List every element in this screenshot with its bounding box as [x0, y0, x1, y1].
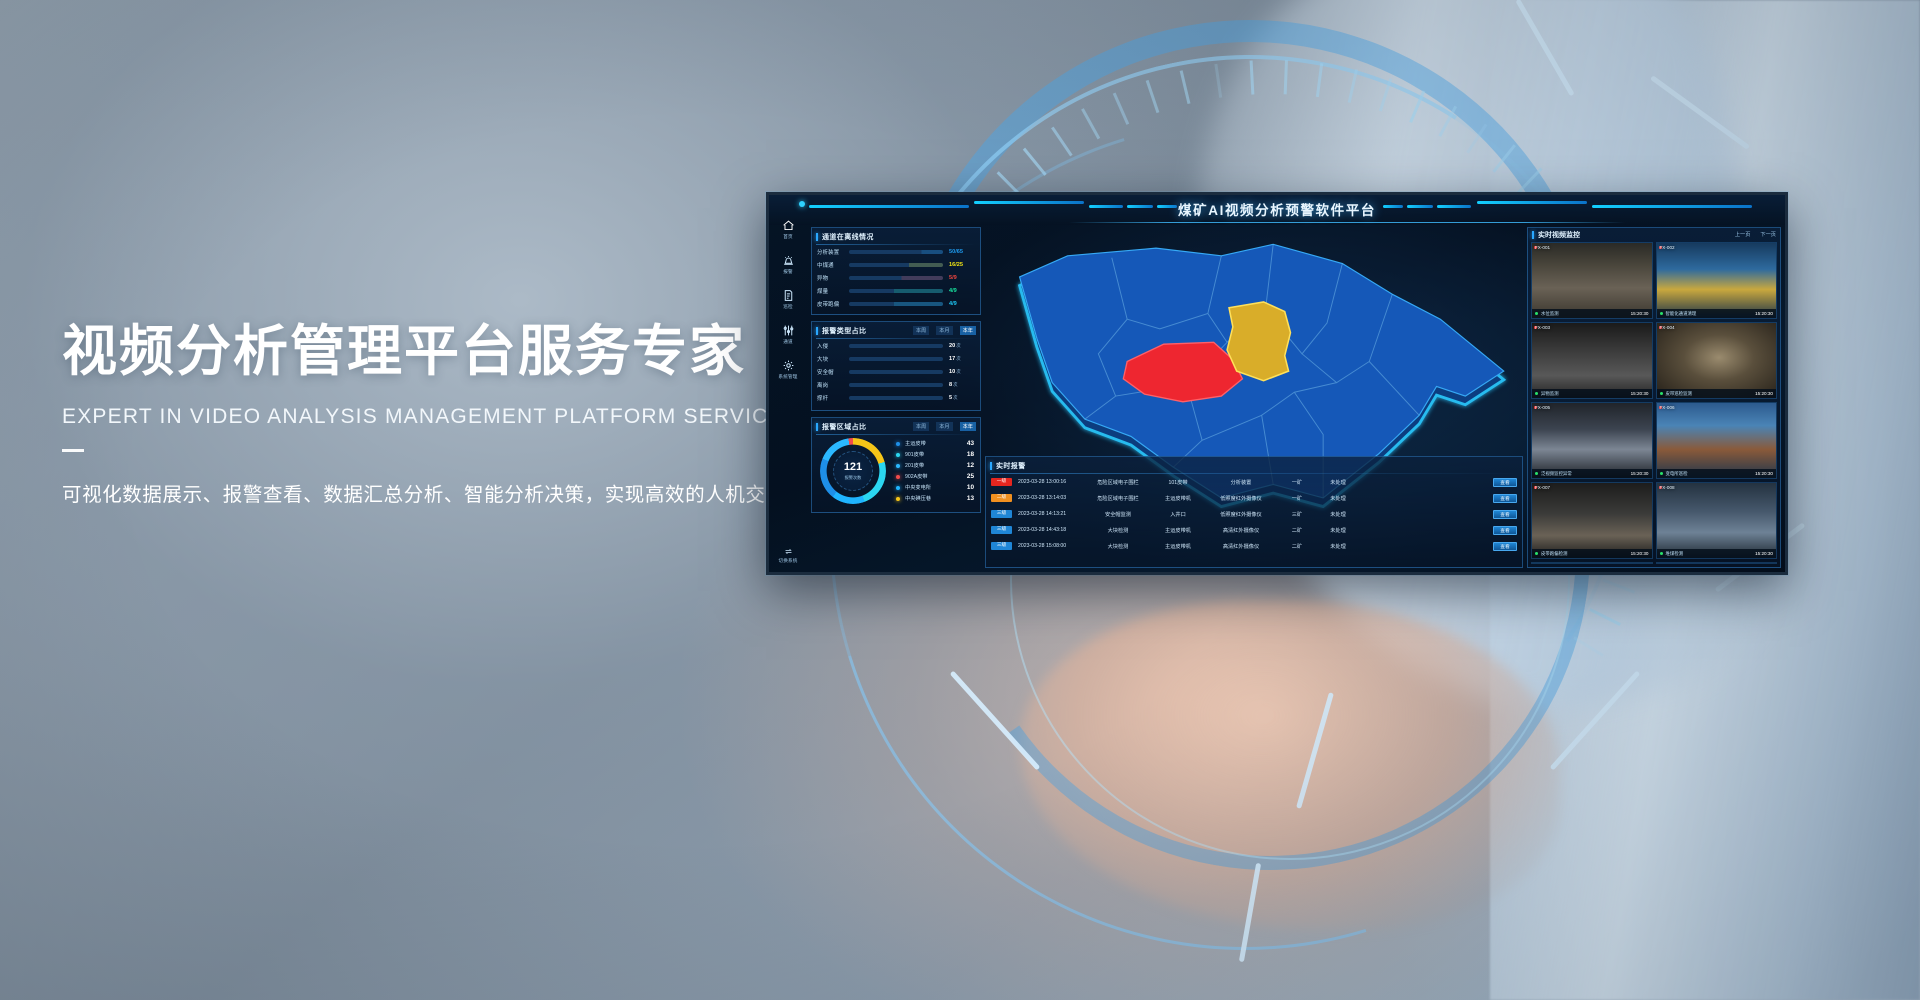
- video-caption-bar: 异物监测15:20:30: [1532, 389, 1652, 398]
- alarm-type-track: [849, 344, 943, 348]
- video-name: 堆煤检测: [1666, 551, 1684, 557]
- alarm-type-row: 安全帽10次: [812, 365, 980, 378]
- legend-item: 中央碘压巷13: [896, 493, 974, 504]
- cell-location: 主运皮带机: [1148, 495, 1202, 502]
- channel-row-value: 16/25: [949, 262, 975, 268]
- panel-accent-bar: [990, 462, 992, 470]
- status-badge: 一级: [991, 478, 1012, 486]
- channel-row-label: 分析装置: [817, 248, 849, 256]
- hero-headline: 视频分析管理平台服务专家: [62, 320, 822, 383]
- alarm-type-title: 报警类型占比: [822, 326, 866, 336]
- sidebar: 首页 报警 巡检: [769, 209, 807, 572]
- cell-status: 未处理: [1314, 527, 1356, 534]
- table-row: 三级2023-03-28 15:08:00大块检测主运皮带机高清红外摄像仪二矿未…: [986, 538, 1522, 554]
- tab-本月[interactable]: 本月: [936, 326, 952, 335]
- video-caption-bar: 变电所巡检15:20:30: [1657, 469, 1777, 478]
- alarm-type-row: 入侵20次: [812, 339, 980, 352]
- cell-type: 安全帽监测: [1082, 511, 1148, 518]
- alarm-type-value: 8次: [949, 382, 975, 388]
- video-caption-bar: 皮带机检测15:20:30: [1532, 562, 1652, 563]
- legend-item: 主运皮带43: [896, 438, 974, 449]
- video-tile[interactable]: FX-002智能化通道清理15:20:30: [1656, 242, 1778, 319]
- channel-row-track: [849, 276, 943, 280]
- alarm-type-unit: 次: [953, 382, 957, 387]
- video-id: FX-001: [1535, 245, 1550, 250]
- status-badge: 三级: [991, 542, 1012, 550]
- video-feed: [1532, 323, 1652, 398]
- channel-row-label: 皮带跑偏: [817, 300, 849, 308]
- video-caption-bar: 堆煤检测15:20:30: [1657, 549, 1777, 558]
- video-id: FX-005: [1535, 405, 1550, 410]
- cell-location: 101皮带: [1148, 479, 1202, 486]
- video-tile[interactable]: FX-005泛视频监控异常15:20:30: [1531, 402, 1653, 479]
- online-status-icon: [1535, 312, 1538, 315]
- alarm-type-panel: 报警类型占比 本周本月本年 入侵20次大块17次安全帽10次离岗8次撑杆5次: [811, 321, 981, 411]
- channel-rows: 分析装置50/65中煤通16/25异物5/9煤量4/9皮带跑偏4/9: [812, 245, 980, 310]
- hero-copy: 视频分析管理平台服务专家 EXPERT IN VIDEO ANALYSIS MA…: [62, 320, 822, 507]
- panel-accent-bar: [1532, 231, 1534, 239]
- alarm-area-legend: 主运皮带43901皮带18201皮带12902A皮带25中央变电所10中央碘压巷…: [896, 438, 974, 504]
- video-timestamp: 15:20:30: [1755, 471, 1773, 476]
- cell-mine: 三矿: [1274, 511, 1314, 518]
- channel-row: 异物5/9: [812, 271, 980, 284]
- video-name: 泛视频监控异常: [1541, 471, 1572, 477]
- video-tile[interactable]: FX-009皮带机检测15:20:30: [1531, 562, 1653, 564]
- video-panel-title: 实时视频监控: [1538, 230, 1580, 240]
- alarm-type-label: 撑杆: [817, 394, 849, 402]
- video-tile[interactable]: FX-001水位监测15:20:30: [1531, 242, 1653, 319]
- legend-label: 902A皮带: [905, 473, 956, 480]
- alarm-type-unit: 次: [956, 356, 960, 361]
- legend-label: 201皮带: [905, 462, 956, 469]
- cell-device: 高清红外摄像仪: [1202, 543, 1274, 550]
- view-button[interactable]: 查看: [1493, 494, 1517, 503]
- cell-time: 2023-03-28 14:13:21: [1012, 511, 1082, 517]
- dashboard-topbar: 煤矿AI视频分析预警软件平台: [769, 195, 1785, 225]
- alarm-type-track: [849, 357, 943, 361]
- inspection-icon: [769, 289, 807, 302]
- alarm-type-value: 10次: [949, 369, 975, 375]
- cell-type: 大块检测: [1082, 527, 1148, 534]
- channel-row: 皮带跑偏4/9: [812, 297, 980, 310]
- sidebar-label-system-settings: 系统管理: [769, 374, 807, 380]
- video-feed: [1532, 243, 1652, 318]
- video-id: FX-008: [1660, 485, 1675, 490]
- alarm-type-value: 20次: [949, 343, 975, 349]
- title-underline: [1069, 222, 1625, 223]
- online-status-icon: [1535, 392, 1538, 395]
- cell-status: 未处理: [1314, 495, 1356, 502]
- alarm-area-header: 报警区域占比 本周本月本年: [812, 420, 980, 433]
- legend-value: 13: [956, 495, 974, 502]
- legend-dot: [896, 497, 900, 501]
- alarm-icon: [769, 254, 807, 267]
- video-timestamp: 15:20:30: [1631, 551, 1649, 556]
- video-feed: [1657, 243, 1777, 318]
- channel-row: 煤量4/9: [812, 284, 980, 297]
- legend-value: 12: [956, 462, 974, 469]
- video-id: FX-004: [1660, 325, 1675, 330]
- cell-mine: 二矿: [1274, 527, 1314, 534]
- table-row: 一级2023-03-28 13:00:16危险区域电子围栏101皮带分析装置一矿…: [986, 474, 1522, 490]
- dashboard-screen: 煤矿AI视频分析预警软件平台 首页 报警: [766, 192, 1788, 575]
- video-timestamp: 15:20:30: [1631, 391, 1649, 396]
- cell-location: 入井口: [1148, 511, 1202, 518]
- cell-location: 主运皮带机: [1148, 543, 1202, 550]
- sidebar-item-home[interactable]: 首页: [769, 219, 807, 240]
- view-button[interactable]: 查看: [1493, 478, 1517, 487]
- alarm-type-label: 入侵: [817, 342, 849, 350]
- legend-label: 中央变电所: [905, 484, 956, 491]
- sidebar-item-system-settings[interactable]: 系统管理: [769, 359, 807, 380]
- alarm-type-tabs: 本周本月本年: [913, 326, 976, 335]
- sidebar-label-switch-system: 切换系统: [769, 558, 807, 564]
- video-caption-bar: 皮带巡检监测15:20:30: [1657, 389, 1777, 398]
- video-caption-bar: 泛视频监控异常15:20:30: [1532, 469, 1652, 478]
- video-feed: [1657, 403, 1777, 478]
- sidebar-label-inspection: 巡检: [769, 304, 807, 310]
- video-panel-header: 实时视频监控 上一页 下一页: [1528, 228, 1780, 241]
- legend-dot: [896, 464, 900, 468]
- cell-time: 2023-03-28 13:00:16: [1012, 479, 1082, 485]
- view-button[interactable]: 查看: [1493, 510, 1517, 519]
- legend-dot: [896, 442, 900, 446]
- sidebar-item-inspection[interactable]: 巡检: [769, 289, 807, 310]
- video-id: FX-003: [1535, 325, 1550, 330]
- map-panel: [985, 227, 1523, 454]
- table-row: 二级2023-03-28 13:14:03危险区域电子围栏主运皮带机低照度红外摄…: [986, 490, 1522, 506]
- tab-本年[interactable]: 本年: [960, 326, 976, 335]
- cell-device: 低照度红外摄像仪: [1202, 495, 1274, 502]
- legend-label: 主运皮带: [905, 440, 956, 447]
- legend-label: 901皮带: [905, 451, 956, 458]
- cell-status: 未处理: [1314, 543, 1356, 550]
- donut-center: 121 报警次数: [833, 451, 873, 491]
- donut-caption: 报警次数: [845, 475, 862, 481]
- video-tile[interactable]: FX-010人员脱岗15:20:30: [1656, 562, 1778, 564]
- status-badge: 三级: [991, 510, 1012, 518]
- legend-item: 901皮带18: [896, 449, 974, 460]
- video-name: 智能化通道清理: [1666, 311, 1697, 317]
- tab-本年[interactable]: 本年: [960, 422, 976, 431]
- legend-dot: [896, 486, 900, 490]
- alarm-type-label: 大块: [817, 355, 849, 363]
- channel-row-label: 中煤通: [817, 261, 849, 269]
- alarm-type-label: 安全帽: [817, 368, 849, 376]
- video-timestamp: 15:20:30: [1631, 311, 1649, 316]
- table-row: 三级2023-03-28 14:13:21安全帽监测入井口低照度红外摄像仪三矿未…: [986, 506, 1522, 522]
- cell-mine: 二矿: [1274, 543, 1314, 550]
- panel-accent-bar: [816, 233, 818, 241]
- cell-location: 主运皮带机: [1148, 527, 1202, 534]
- video-caption-bar: 水位监测15:20:30: [1532, 309, 1652, 318]
- gear-icon: [769, 359, 807, 372]
- view-button[interactable]: 查看: [1493, 526, 1517, 535]
- alarm-type-track: [849, 383, 943, 387]
- video-id: FX-002: [1660, 245, 1675, 250]
- table-row: 三级2023-03-28 14:43:18大块检测主运皮带机高清红外摄像仪二矿未…: [986, 522, 1522, 538]
- channel-row-value: 4/9: [949, 288, 975, 294]
- hero-tagline: 可视化数据展示、报警查看、数据汇总分析、智能分析决策，实现高效的人机交互: [62, 478, 822, 507]
- video-tile[interactable]: FX-007皮带跑偏检测15:20:30: [1531, 482, 1653, 559]
- online-status-icon: [1535, 552, 1538, 555]
- video-tile[interactable]: FX-006变电所巡检15:20:30: [1656, 402, 1778, 479]
- alarm-type-unit: 次: [953, 395, 957, 400]
- video-timestamp: 15:20:30: [1755, 551, 1773, 556]
- legend-value: 25: [956, 473, 974, 480]
- cell-mine: 一矿: [1274, 495, 1314, 502]
- video-feed: [1657, 483, 1777, 558]
- channel-row-value: 5/9: [949, 275, 975, 281]
- status-badge: 三级: [991, 526, 1012, 534]
- realtime-alarm-title: 实时报警: [996, 461, 1026, 471]
- realtime-alarm-header: 实时报警: [986, 459, 1522, 472]
- tab-本周[interactable]: 本周: [913, 326, 929, 335]
- channel-row-value: 4/9: [949, 301, 975, 307]
- video-monitor-panel: 实时视频监控 上一页 下一页 FX-001水位监测15:20:30FX-002智…: [1527, 227, 1781, 568]
- online-status-icon: [1660, 472, 1663, 475]
- cell-time: 2023-03-28 15:08:00: [1012, 543, 1082, 549]
- video-tile[interactable]: FX-003异物监测15:20:30: [1531, 322, 1653, 399]
- alarm-type-row: 大块17次: [812, 352, 980, 365]
- alarm-type-header: 报警类型占比 本周本月本年: [812, 324, 980, 337]
- alarm-type-label: 离岗: [817, 381, 849, 389]
- video-name: 皮带巡检监测: [1666, 391, 1692, 397]
- alarm-type-unit: 次: [956, 369, 960, 374]
- hero-divider: [62, 449, 84, 452]
- channel-row-value: 50/65: [949, 249, 975, 255]
- cell-status: 未处理: [1314, 511, 1356, 518]
- legend-dot: [896, 453, 900, 457]
- video-feed: [1532, 403, 1652, 478]
- video-timestamp: 15:20:30: [1631, 471, 1649, 476]
- hero-subheadline: EXPERT IN VIDEO ANALYSIS MANAGEMENT PLAT…: [62, 405, 822, 429]
- channel-icon: [769, 324, 807, 337]
- legend-dot: [896, 475, 900, 479]
- cell-device: 分析装置: [1202, 479, 1274, 486]
- video-id: FX-006: [1660, 405, 1675, 410]
- legend-value: 18: [956, 451, 974, 458]
- channel-row-track: [849, 263, 943, 267]
- realtime-alarm-rows: 一级2023-03-28 13:00:16危险区域电子围栏101皮带分析装置一矿…: [986, 474, 1522, 554]
- video-grid: FX-001水位监测15:20:30FX-002智能化通道清理15:20:30F…: [1531, 242, 1777, 564]
- video-feed: [1532, 483, 1652, 558]
- donut-total: 121: [844, 462, 862, 473]
- cell-type: 危险区域电子围栏: [1082, 479, 1148, 486]
- alarm-type-value: 17次: [949, 356, 975, 362]
- alarm-type-track: [849, 370, 943, 374]
- alarm-type-unit: 次: [956, 343, 960, 348]
- channel-row-track: [849, 289, 943, 293]
- video-name: 水位监测: [1541, 311, 1559, 317]
- sidebar-item-switch-system[interactable]: 切换系统: [769, 547, 807, 564]
- view-button[interactable]: 查看: [1493, 542, 1517, 551]
- video-timestamp: 15:20:30: [1755, 311, 1773, 316]
- video-feed: [1657, 323, 1777, 398]
- channel-row: 分析装置50/65: [812, 245, 980, 258]
- online-status-icon: [1660, 552, 1663, 555]
- channel-status-panel: 通道在离线情况 分析装置50/65中煤通16/25异物5/9煤量4/9皮带跑偏4…: [811, 227, 981, 315]
- alarm-area-donut: 121 报警次数: [820, 438, 886, 504]
- legend-label: 中央碘压巷: [905, 495, 956, 502]
- video-caption-bar: 人员脱岗15:20:30: [1657, 562, 1777, 563]
- online-status-icon: [1535, 472, 1538, 475]
- status-badge: 二级: [991, 494, 1012, 502]
- video-caption-bar: 智能化通道清理15:20:30: [1657, 309, 1777, 318]
- channel-row-label: 煤量: [817, 287, 849, 295]
- channel-row-track: [849, 250, 943, 254]
- legend-item: 中央变电所10: [896, 482, 974, 493]
- tab-本月[interactable]: 本月: [936, 422, 952, 431]
- cell-time: 2023-03-28 14:43:18: [1012, 527, 1082, 533]
- switch-icon: [769, 547, 807, 556]
- cell-type: 危险区域电子围栏: [1082, 495, 1148, 502]
- alarm-type-row: 离岗8次: [812, 378, 980, 391]
- alarm-area-tabs: 本周本月本年: [913, 422, 976, 431]
- alarm-area-rule: [816, 434, 976, 435]
- dashboard-canvas: 煤矿AI视频分析预警软件平台 首页 报警: [769, 195, 1785, 572]
- cell-device: 高清红外摄像仪: [1202, 527, 1274, 534]
- channel-row: 中煤通16/25: [812, 258, 980, 271]
- home-icon: [769, 219, 807, 232]
- cell-mine: 一矿: [1274, 479, 1314, 486]
- online-status-icon: [1660, 392, 1663, 395]
- alarm-type-rows: 入侵20次大块17次安全帽10次离岗8次撑杆5次: [812, 339, 980, 404]
- alarm-type-row: 撑杆5次: [812, 391, 980, 404]
- legend-value: 43: [956, 440, 974, 447]
- legend-value: 10: [956, 484, 974, 491]
- video-name: 异物监测: [1541, 391, 1559, 397]
- video-tile[interactable]: FX-008堆煤检测15:20:30: [1656, 482, 1778, 559]
- video-name: 皮带跑偏检测: [1541, 551, 1567, 557]
- alarm-type-track: [849, 396, 943, 400]
- video-name: 变电所巡检: [1666, 471, 1688, 477]
- sidebar-label-home: 首页: [769, 234, 807, 240]
- realtime-alarm-panel: 实时报警 一级2023-03-28 13:00:16危险区域电子围栏101皮带分…: [985, 456, 1523, 568]
- alarm-type-value: 5次: [949, 395, 975, 401]
- cell-status: 未处理: [1314, 479, 1356, 486]
- legend-item: 201皮带12: [896, 460, 974, 471]
- sidebar-item-alarm[interactable]: 报警: [769, 254, 807, 275]
- tab-本周[interactable]: 本周: [913, 422, 929, 431]
- panel-accent-bar: [816, 423, 818, 431]
- channel-panel-title: 通道在离线情况: [822, 232, 874, 242]
- channel-panel-header: 通道在离线情况: [812, 230, 980, 243]
- video-caption-bar: 皮带跑偏检测15:20:30: [1532, 549, 1652, 558]
- cell-time: 2023-03-28 13:14:03: [1012, 495, 1082, 501]
- panel-accent-bar: [816, 327, 818, 335]
- map-region-highlight-yellow[interactable]: [1227, 302, 1290, 381]
- prev-page-button[interactable]: 上一页: [1735, 231, 1751, 238]
- legend-item: 902A皮带25: [896, 471, 974, 482]
- video-tile[interactable]: FX-004皮带巡检监测15:20:30: [1656, 322, 1778, 399]
- alarm-area-title: 报警区域占比: [822, 422, 866, 432]
- channel-row-label: 异物: [817, 274, 849, 282]
- next-page-button[interactable]: 下一页: [1760, 231, 1776, 238]
- alarm-area-panel: 报警区域占比 本周本月本年 121 报警次数 主运皮带43901皮带18201皮…: [811, 417, 981, 513]
- platform-title: 煤矿AI视频分析预警软件平台: [769, 199, 1785, 219]
- sidebar-item-channel[interactable]: 通道: [769, 324, 807, 345]
- video-timestamp: 15:20:30: [1755, 391, 1773, 396]
- sidebar-label-channel: 通道: [769, 339, 807, 345]
- online-status-icon: [1660, 312, 1663, 315]
- cell-type: 大块检测: [1082, 543, 1148, 550]
- video-pagination: 上一页 下一页: [1735, 231, 1776, 238]
- cell-device: 低照度红外摄像仪: [1202, 511, 1274, 518]
- channel-row-track: [849, 302, 943, 306]
- video-id: FX-007: [1535, 485, 1550, 490]
- sidebar-label-alarm: 报警: [769, 269, 807, 275]
